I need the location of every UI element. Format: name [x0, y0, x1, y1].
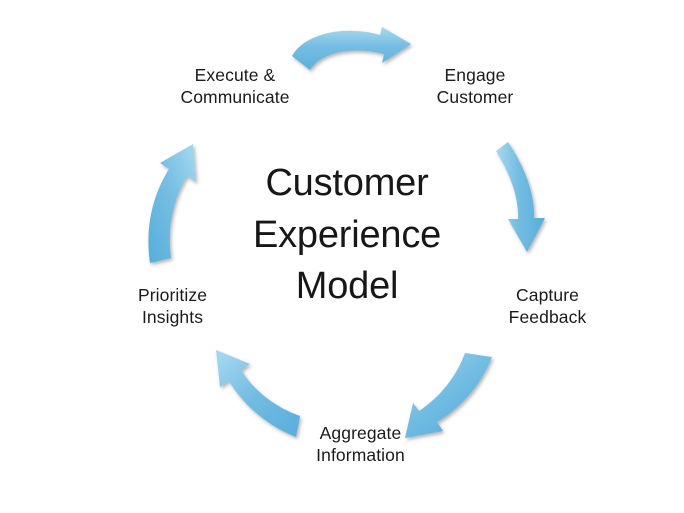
step-label-capture: Capture Feedback: [480, 284, 615, 328]
arrow-left-icon: [148, 144, 196, 263]
step-label-aggregate: Aggregate Information: [288, 422, 433, 466]
step-label-execute: Execute & Communicate: [150, 64, 320, 108]
diagram-center-title: Customer Experience Model: [212, 158, 482, 313]
arrow-right-icon: [496, 142, 545, 252]
diagram-canvas: Customer Experience Model Execute & Comm…: [0, 0, 684, 513]
step-label-prioritize: Prioritize Insights: [110, 284, 235, 328]
step-label-engage: Engage Customer: [400, 64, 550, 108]
